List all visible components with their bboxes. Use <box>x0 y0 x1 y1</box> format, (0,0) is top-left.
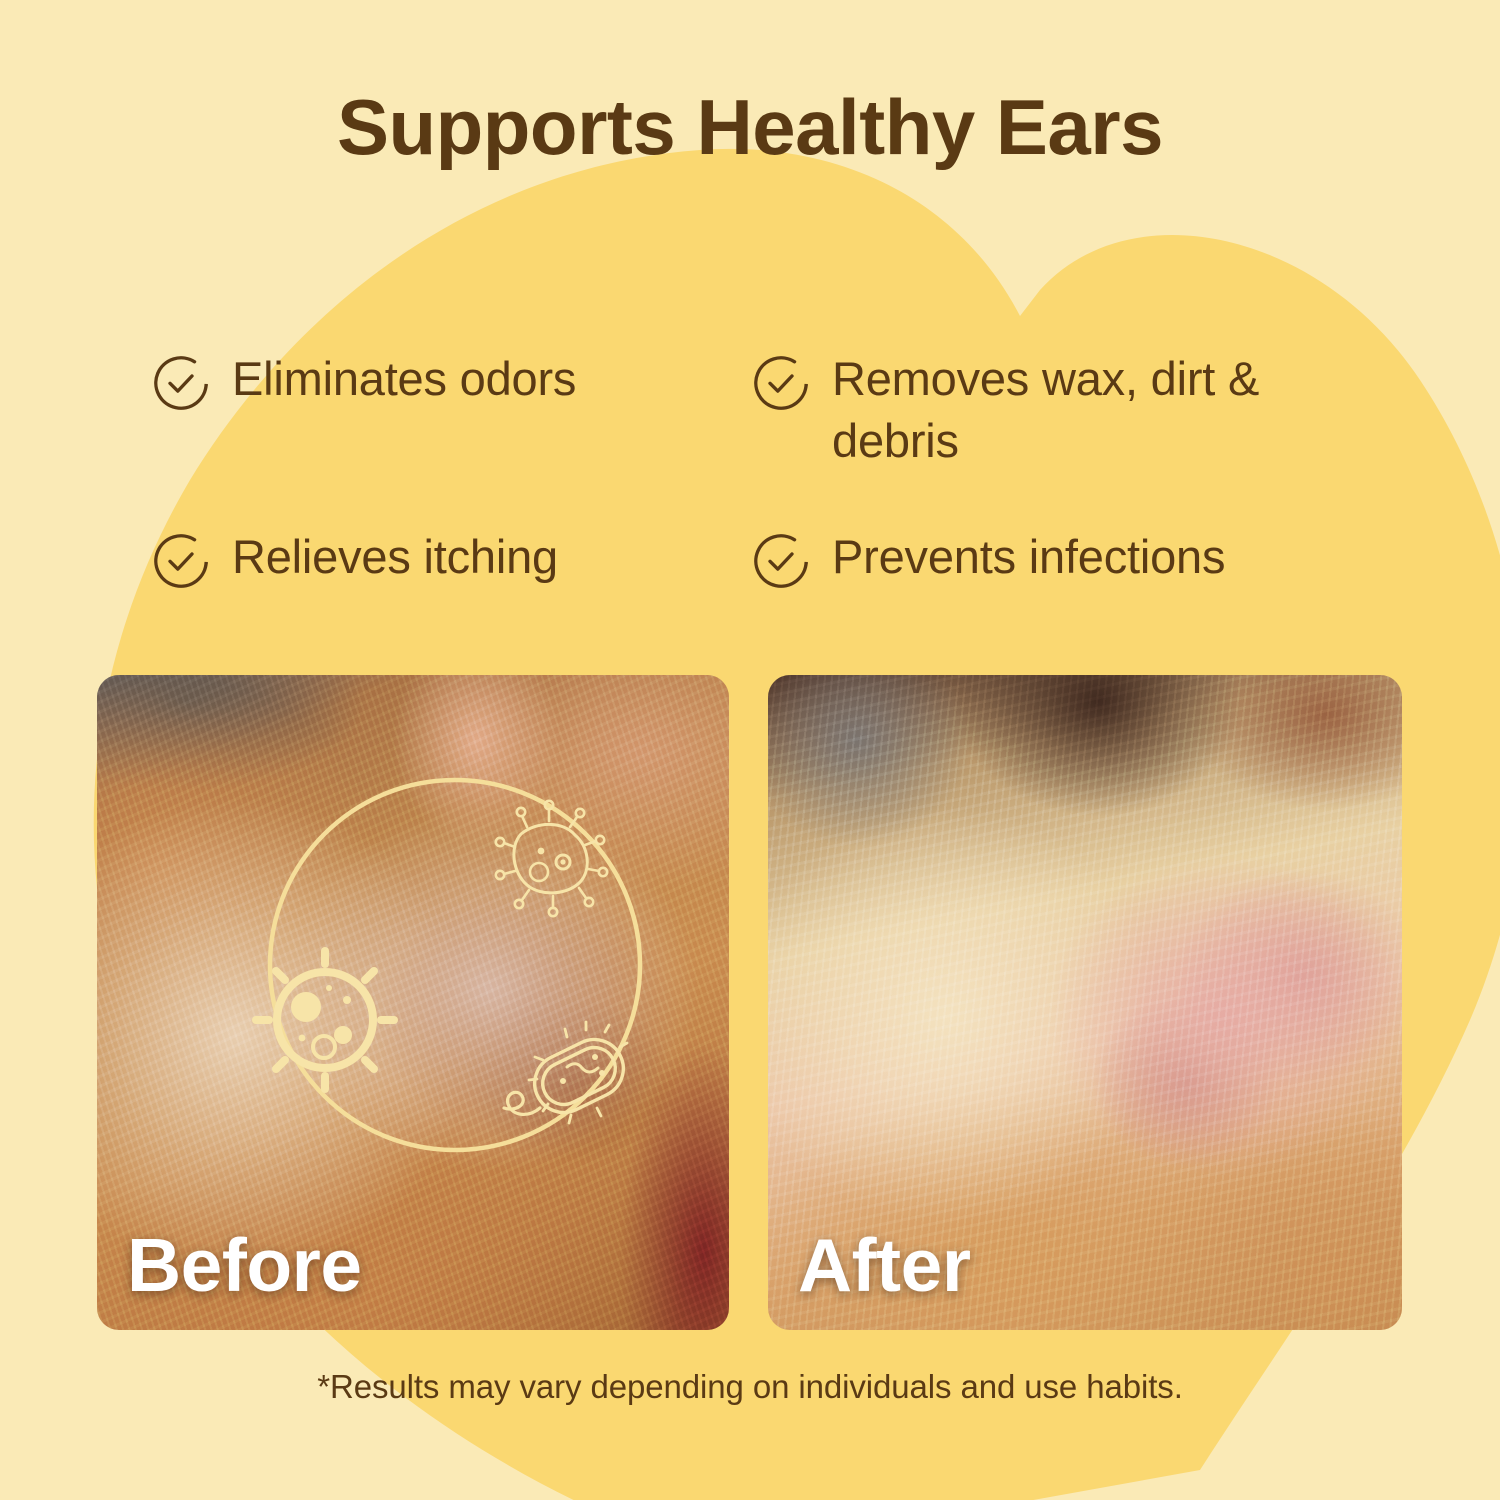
check-circle-icon <box>150 531 212 593</box>
benefit-label: Relieves itching <box>232 526 558 588</box>
check-circle-icon <box>150 353 212 415</box>
disclaimer-text: *Results may vary depending on individua… <box>0 1368 1500 1406</box>
benefit-item: Removes wax, dirt & debris <box>750 348 1370 526</box>
benefit-label: Prevents infections <box>832 526 1225 588</box>
check-circle-icon <box>750 531 812 593</box>
benefit-label: Removes wax, dirt & debris <box>832 348 1352 472</box>
benefit-label: Eliminates odors <box>232 348 576 410</box>
before-photo-panel: Before <box>97 675 729 1330</box>
benefit-item: Eliminates odors <box>150 348 750 526</box>
after-caption: After <box>798 1222 971 1308</box>
after-photo-panel: After <box>768 675 1402 1330</box>
promo-image: Supports Healthy Ears Eliminates odors R… <box>0 0 1500 1500</box>
page-title: Supports Healthy Ears <box>0 82 1500 173</box>
before-caption: Before <box>127 1222 362 1308</box>
benefits-list: Eliminates odors Removes wax, dirt & deb… <box>150 348 1370 704</box>
check-circle-icon <box>750 353 812 415</box>
